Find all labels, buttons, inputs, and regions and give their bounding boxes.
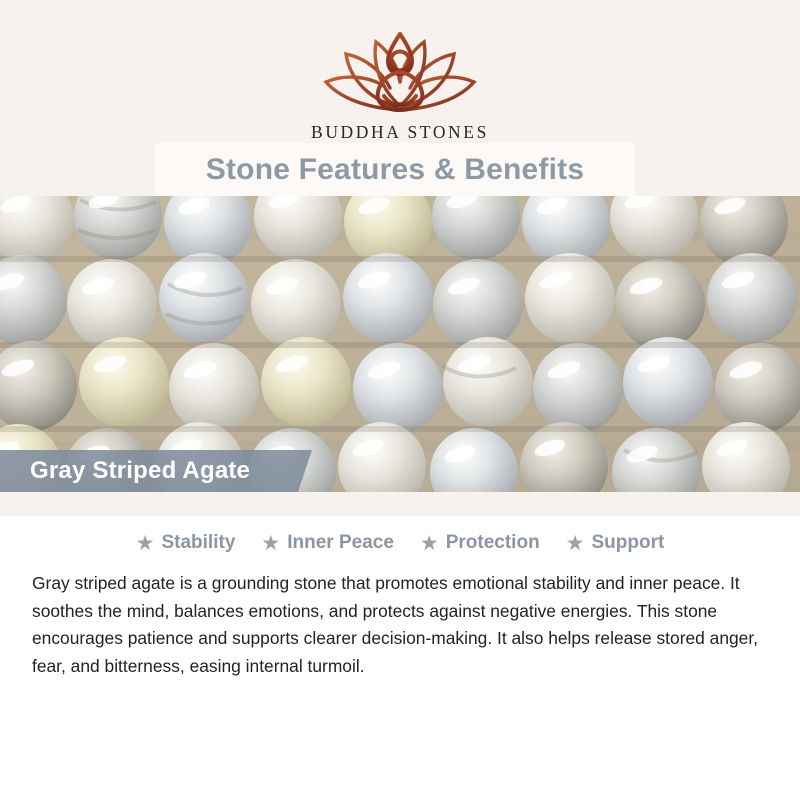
benefit-label: Protection bbox=[446, 532, 540, 554]
stone-name-text: Gray Striped Agate bbox=[30, 457, 250, 485]
benefit-label: Inner Peace bbox=[287, 532, 394, 554]
stone-photo bbox=[0, 196, 800, 492]
benefits-row: ★ Stability ★ Inner Peace ★ Protection ★… bbox=[0, 532, 800, 554]
page-title: Stone Features & Benefits bbox=[206, 153, 584, 187]
benefit-item: ★ Support bbox=[566, 532, 665, 554]
benefit-item: ★ Stability bbox=[136, 532, 236, 554]
benefit-item: ★ Inner Peace bbox=[261, 532, 394, 554]
stone-description: Gray striped agate is a grounding stone … bbox=[32, 570, 772, 680]
brand-name: BUDDHA STONES bbox=[0, 122, 800, 143]
panel-top-strip bbox=[0, 492, 800, 516]
benefit-label: Support bbox=[592, 532, 665, 554]
star-icon: ★ bbox=[566, 533, 585, 554]
benefit-label: Stability bbox=[161, 532, 235, 554]
star-icon: ★ bbox=[261, 533, 280, 554]
poster-root: BUDDHA STONES Stone Features & Benefits bbox=[0, 0, 800, 800]
stone-name-label: Gray Striped Agate bbox=[0, 450, 312, 492]
description-panel: ★ Stability ★ Inner Peace ★ Protection ★… bbox=[0, 492, 800, 800]
star-icon: ★ bbox=[420, 533, 439, 554]
lotus-meditation-icon bbox=[0, 24, 800, 118]
brand-logo: BUDDHA STONES bbox=[0, 24, 800, 143]
title-banner: Stone Features & Benefits bbox=[155, 143, 635, 196]
star-icon: ★ bbox=[136, 533, 155, 554]
benefit-item: ★ Protection bbox=[420, 532, 540, 554]
